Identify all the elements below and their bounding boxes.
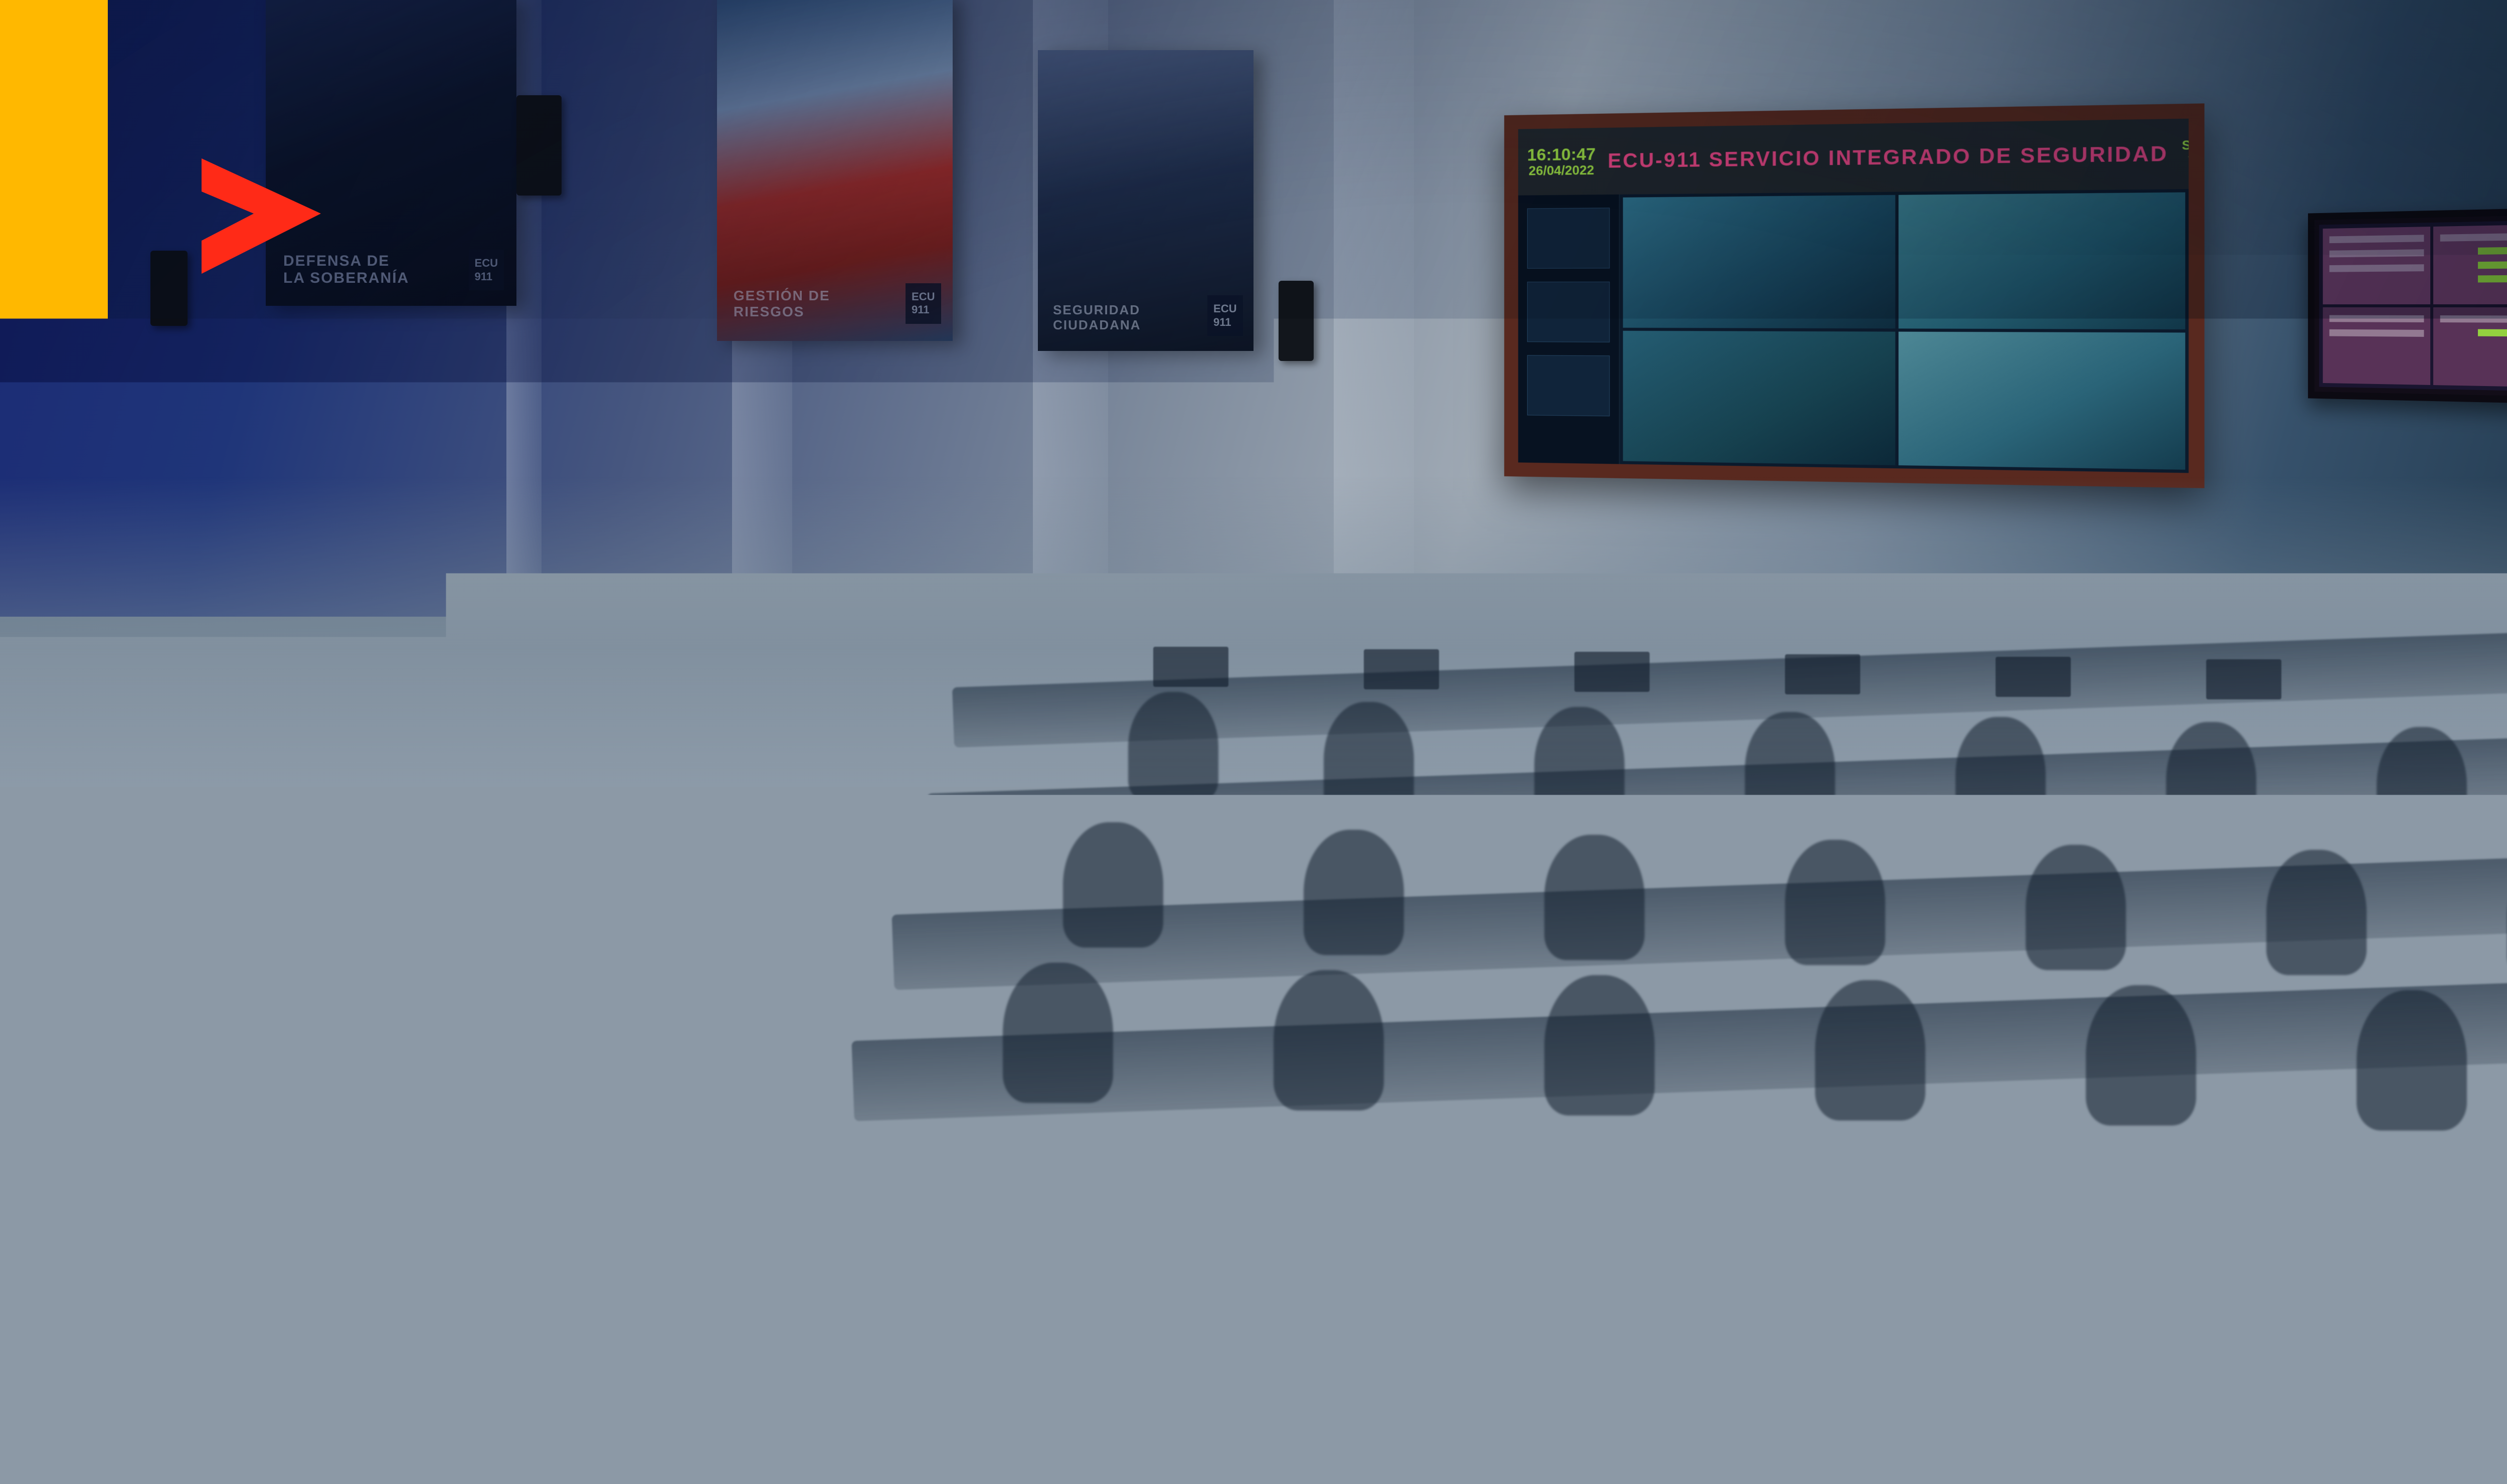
headline-line-1: Informe de Evaluación del Plan [227,446,1426,540]
logo-wordmark: ECUADOR [2053,1198,2405,1317]
dashboard-panel-left [231,803,496,1073]
organization-name: Servicio Integrado de Seguridad ECU 911 [211,1303,968,1346]
banner-stage: DEFENSA DELA SOBERANÍA ECU911 GESTIÓN DE… [0,0,2507,1484]
person-figure [318,1025,393,1214]
headline-line-2: Estratégico Institucional del 2021 [227,546,2433,631]
isometric-dashboard-illustration [216,772,1143,1233]
kicker-text: Revise aquí los resultados del [196,360,974,421]
chevron-right-icon [195,150,328,282]
ecuador-coat-of-arms-icon: ARIES [1827,1141,1993,1342]
flag-stripes-icon [2388,1159,2507,1314]
person-figure [1006,1154,1050,1233]
person-figure [823,1142,867,1233]
el-nuevo-ecuador-logo: EL NUEVO ECUADOR [2053,1149,2507,1334]
person-figure [1092,1143,1134,1233]
logo-card: ARIES [1692,1098,2507,1385]
page-title: Informe de Evaluación del Plan Estratégi… [227,451,2433,631]
kicker-banner: Revise aquí los resultados del [196,333,1527,447]
yellow-accent-bar [0,0,108,698]
